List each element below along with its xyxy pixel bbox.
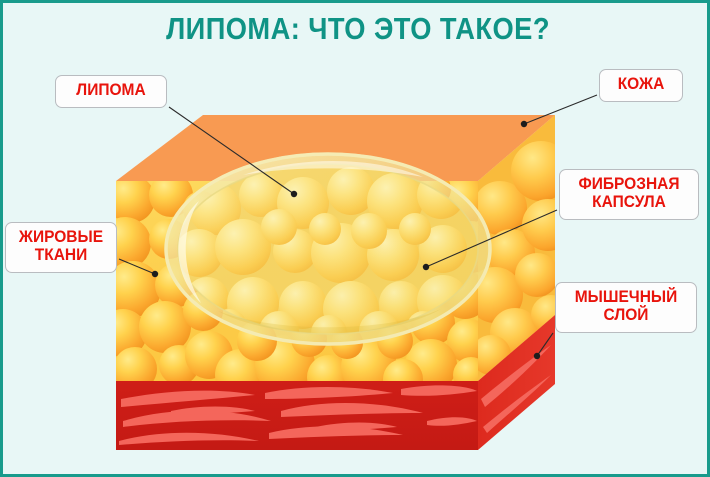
leader-dot-skin [521, 121, 527, 127]
callout-label-muscle-line-1: МЫШЕЧНЫЙ [569, 289, 684, 307]
leader-dot-fat [152, 271, 158, 277]
callout-label-fat-tissue: ЖИРОВЫЕ ТКАНИ [5, 222, 117, 273]
callout-label-lipoma-line-1: ЛИПОМА [68, 82, 154, 100]
callout-label-skin: КОЖА [599, 69, 683, 102]
leader-dot-fibrous [423, 264, 429, 270]
leader-dot-lipoma [291, 191, 297, 197]
infographic-page: ЛИПОМА: ЧТО ЭТО ТАКОЕ? [0, 0, 710, 477]
callout-label-fat-line-1: ЖИРОВЫЕ [18, 229, 104, 247]
callout-label-muscle-layer: МЫШЕЧНЫЙ СЛОЙ [555, 282, 697, 333]
callout-label-fibrous-line-1: ФИБРОЗНАЯ [573, 176, 686, 194]
leader-dot-muscle [534, 353, 540, 359]
callout-label-lipoma: ЛИПОМА [55, 75, 167, 108]
leader-line-skin [524, 95, 597, 124]
callout-label-fibrous-capsule: ФИБРОЗНАЯ КАПСУЛА [559, 169, 699, 220]
callout-label-fibrous-line-2: КАПСУЛА [573, 194, 686, 212]
callout-label-muscle-line-2: СЛОЙ [569, 307, 684, 325]
callout-label-fat-line-2: ТКАНИ [18, 247, 104, 265]
callout-label-skin-line-1: КОЖА [611, 76, 671, 94]
